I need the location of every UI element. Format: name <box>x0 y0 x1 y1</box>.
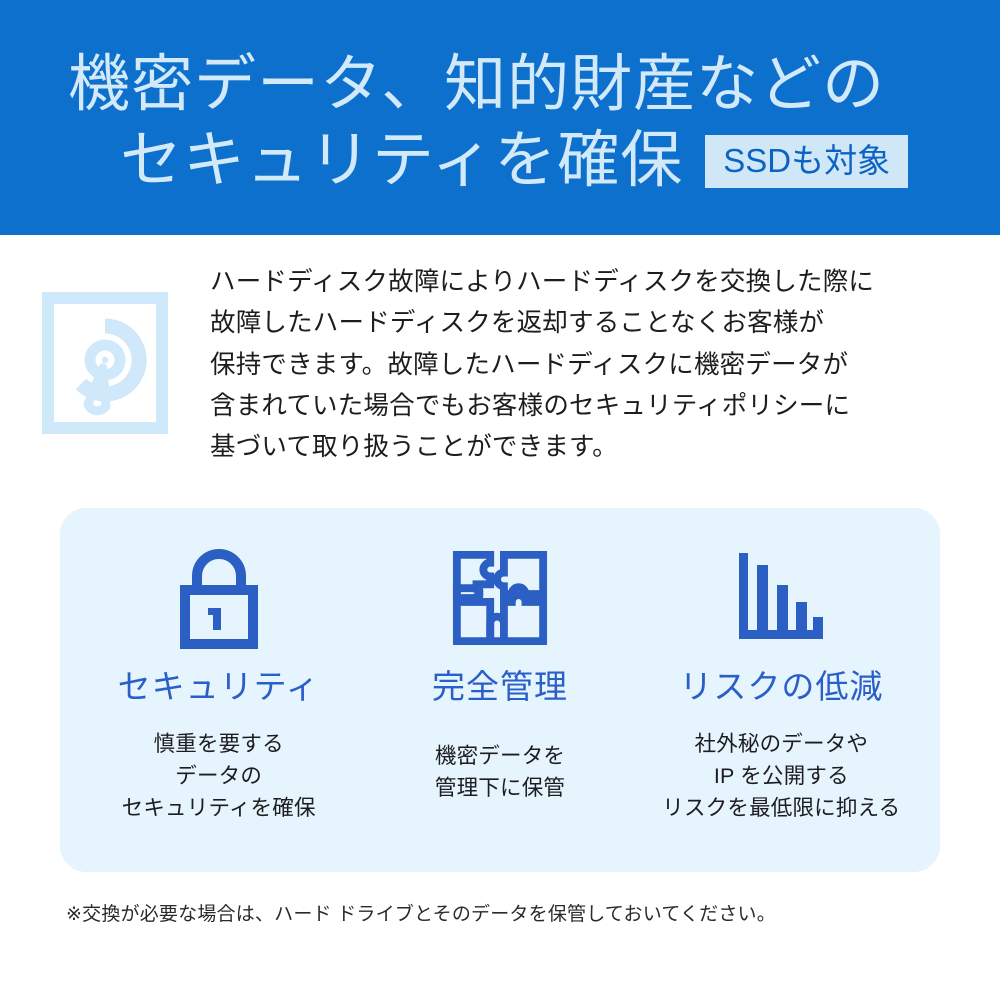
header-title-line2: セキュリティを確保 <box>120 130 683 192</box>
feature-description: 慎重を要する データの セキュリティを確保 <box>122 729 316 824</box>
feature-desc-line: IP を公開する <box>662 761 900 793</box>
footnote-text: ※交換が必要な場合は、ハード ドライブとそのデータを保管しておいてください。 <box>66 899 776 926</box>
feature-icon-container <box>451 546 549 654</box>
feature-title: 完全管理 <box>432 670 568 703</box>
feature-desc-line: リスクを最低限に抑える <box>662 793 900 825</box>
feature-column-risk: リスクの低減 社外秘のデータや IP を公開する リスクを最低限に抑える <box>641 546 922 852</box>
feature-description: 社外秘のデータや IP を公開する リスクを最低限に抑える <box>662 729 900 824</box>
intro-line: 基づいて取り扱うことができます。 <box>210 427 910 468</box>
intro-section: ハードディスク故障によりハードディスクを交換した際に 故障したハードディスクを返… <box>0 262 1000 468</box>
feature-column-management: 完全管理 機密データを 管理下に保管 <box>359 546 640 852</box>
intro-line: 含まれていた場合でもお客様のセキュリティポリシーに <box>210 386 910 427</box>
intro-line: 故障したハードディスクを返却することなくお客様が <box>210 303 910 344</box>
feature-desc-line: 管理下に保管 <box>435 773 565 805</box>
intro-paragraph: ハードディスク故障によりハードディスクを交換した際に 故障したハードディスクを返… <box>210 262 910 468</box>
hard-disk-drive-icon <box>42 292 168 439</box>
feature-description: 機密データを 管理下に保管 <box>435 741 565 805</box>
feature-desc-line: 社外秘のデータや <box>662 729 900 761</box>
feature-desc-line: 慎重を要する <box>122 729 316 761</box>
header-line-2: セキュリティを確保 SSDも対象 <box>0 116 1000 206</box>
feature-icon-container <box>173 546 265 654</box>
feature-icon-container <box>733 546 829 654</box>
header-line-1: 機密データ、知的財産などの <box>0 28 1000 116</box>
padlock-icon <box>173 546 265 655</box>
descending-bar-chart-icon <box>733 549 829 652</box>
puzzle-pieces-icon <box>451 549 549 652</box>
header-title-line1: 機密データ、知的財産などの <box>68 54 885 116</box>
status-badge-ssd: SSDも対象 <box>705 135 908 188</box>
feature-title: リスクの低減 <box>679 670 883 703</box>
feature-desc-line: セキュリティを確保 <box>122 793 316 825</box>
intro-line: ハードディスク故障によりハードディスクを交換した際に <box>210 262 910 303</box>
features-card: セキュリティ 慎重を要する データの セキュリティを確保 <box>60 508 940 872</box>
intro-line: 保持できます。故障したハードディスクに機密データが <box>210 345 910 386</box>
feature-desc-line: データの <box>122 761 316 793</box>
feature-title: セキュリティ <box>118 670 320 703</box>
header-banner: 機密データ、知的財産などの セキュリティを確保 SSDも対象 <box>0 0 1000 235</box>
feature-desc-line: 機密データを <box>435 741 565 773</box>
feature-column-security: セキュリティ 慎重を要する データの セキュリティを確保 <box>78 546 359 852</box>
hdd-icon-container <box>0 262 210 439</box>
